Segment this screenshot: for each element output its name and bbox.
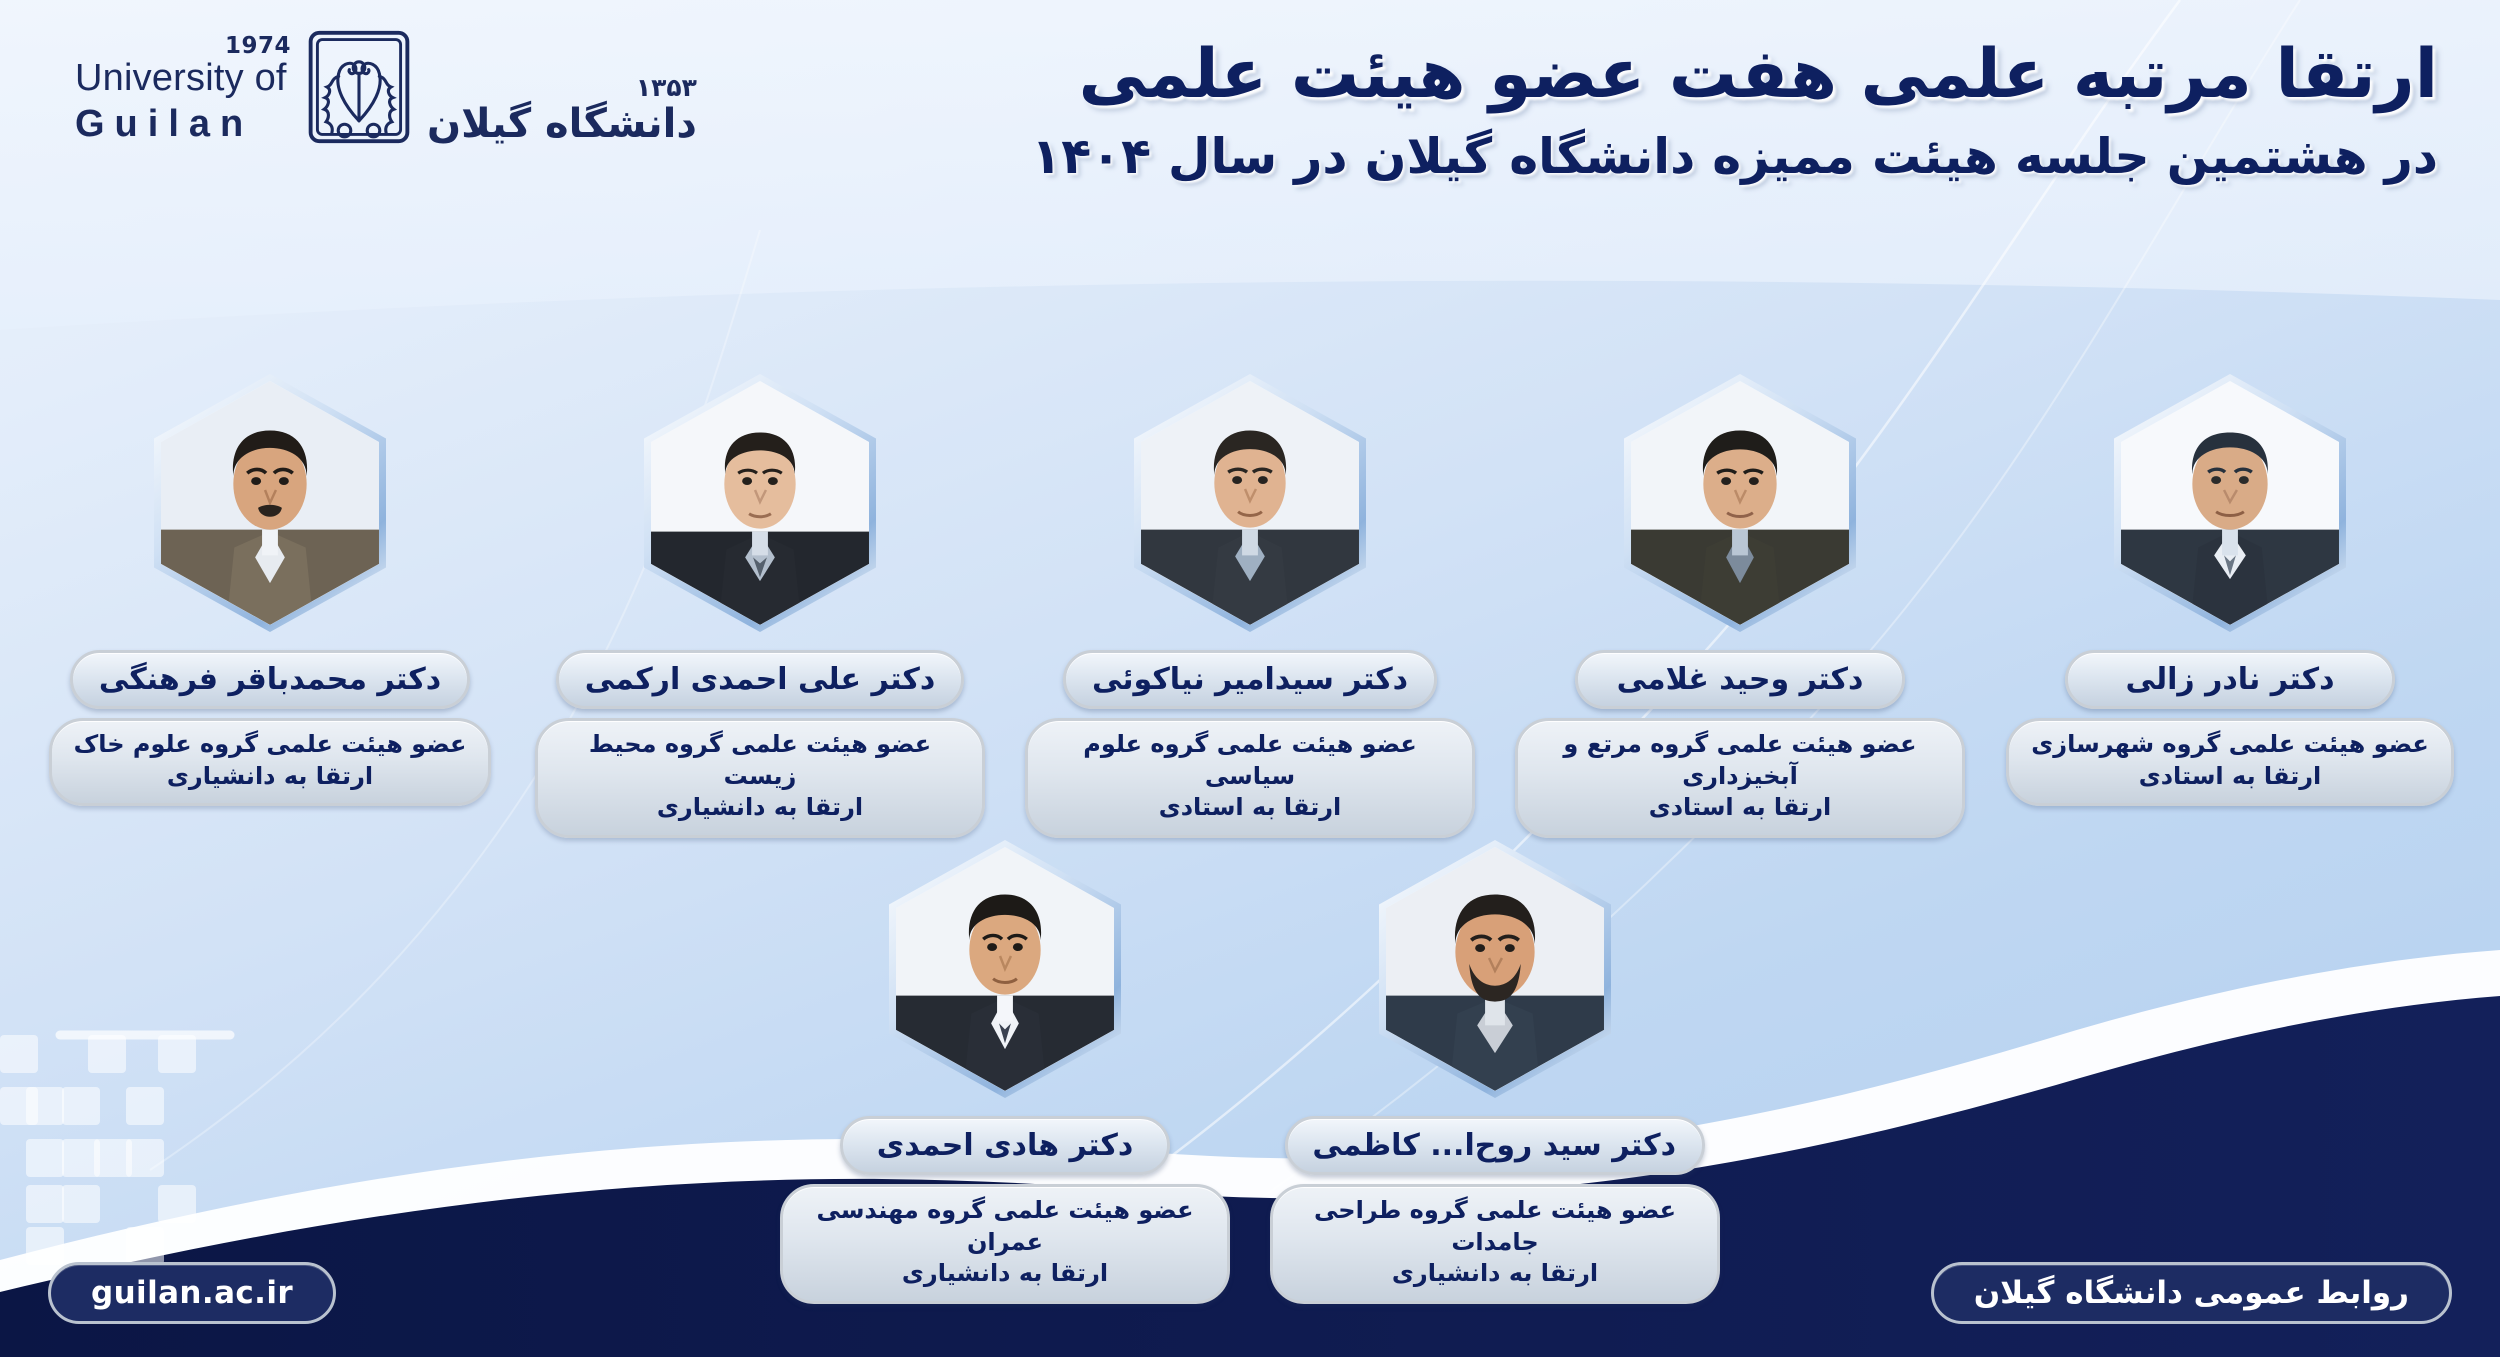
poster-canvas: 1974 University of Guilan ۱۳۵۳ دانشگاه گ… — [0, 0, 2500, 1357]
person-name: دکتر وحید غلامی — [1575, 650, 1905, 709]
logo-founding-year-latin: 1974 — [225, 35, 291, 58]
portrait-hexagon-frame — [644, 374, 876, 632]
person-promotion: ارتقا به دانشیاری — [805, 1258, 1205, 1290]
person-card: دکتر وحید غلامی عضو هیئت علمی گروه مرتع … — [1495, 374, 1985, 838]
person-name: دکتر سید روح‌ا... کاظمی — [1285, 1116, 1705, 1175]
logo-guilan-label: Guilan — [75, 103, 253, 146]
person-info: عضو هیئت علمی گروه طراحی جامدات ارتقا به… — [1270, 1184, 1720, 1304]
person-name: دکتر محمدباقر فرهنگی — [70, 650, 470, 709]
person-card: دکتر نادر زالی عضو هیئت علمی گروه شهرساز… — [1985, 374, 2475, 838]
portrait-hexagon-frame — [1624, 374, 1856, 632]
person-card: دکتر سیدامیر نیاکوئی عضو هیئت علمی گروه … — [1005, 374, 1495, 838]
logo-university-of-label: University of — [75, 58, 287, 99]
portrait-hexagon-frame — [154, 374, 386, 632]
person-info: عضو هیئت علمی گروه علوم سیاسی ارتقا به ا… — [1025, 718, 1475, 838]
person-name: دکتر سیدامیر نیاکوئی — [1063, 650, 1437, 709]
person-promotion: ارتقا به استادی — [1540, 792, 1940, 824]
person-card: دکتر علی احمدی ارکمی عضو هیئت علمی گروه … — [515, 374, 1005, 838]
logo-founding-year-persian: ۱۳۵۳ — [636, 75, 697, 100]
person-name: دکتر علی احمدی ارکمی — [556, 650, 964, 709]
person-department: عضو هیئت علمی گروه طراحی جامدات — [1314, 1196, 1676, 1256]
public-relations-badge: روابط عمومی دانشگاه گیلان — [1931, 1262, 2452, 1324]
portrait-hexagon-frame — [889, 840, 1121, 1098]
logo-english-text: 1974 University of Guilan — [75, 35, 291, 146]
person-department: عضو هیئت علمی گروه علوم سیاسی — [1083, 730, 1417, 790]
person-promotion: ارتقا به استادی — [2031, 761, 2429, 793]
people-row-top: دکتر نادر زالی عضو هیئت علمی گروه شهرساز… — [0, 374, 2500, 838]
logo-university-name-persian: دانشگاه گیلان — [427, 102, 697, 146]
person-promotion: ارتقا به دانشیاری — [74, 761, 467, 793]
website-url-badge[interactable]: guilan.ac.ir — [48, 1262, 336, 1324]
person-info: عضو هیئت علمی گروه محیط زیست ارتقا به دا… — [535, 718, 985, 838]
person-department: عضو هیئت علمی گروه شهرسازی — [2031, 730, 2429, 758]
person-info: عضو هیئت علمی گروه علوم خاک ارتقا به دان… — [49, 718, 492, 806]
page-subtitle: در هشتمین جلسه هیئت ممیزه دانشگاه گیلان … — [1031, 125, 2438, 189]
people-row-bottom: دکتر سید روح‌ا... کاظمی عضو هیئت علمی گر… — [0, 840, 2500, 1304]
person-promotion: ارتقا به دانشیاری — [1295, 1258, 1695, 1290]
person-name: دکتر هادی احمدی — [840, 1116, 1170, 1175]
header-title-block: ارتقا مرتبه علمی هفت عضو هیئت علمی در هش… — [1031, 32, 2438, 189]
person-info: عضو هیئت علمی گروه شهرسازی ارتقا به استا… — [2006, 718, 2454, 806]
logo-persian-text: ۱۳۵۳ دانشگاه گیلان — [427, 75, 697, 146]
person-promotion: ارتقا به استادی — [1050, 792, 1450, 824]
page-title: ارتقا مرتبه علمی هفت عضو هیئت علمی — [1031, 32, 2438, 117]
person-card: دکتر هادی احمدی عضو هیئت علمی گروه مهندس… — [760, 840, 1250, 1304]
portrait-hexagon-frame — [2114, 374, 2346, 632]
person-info: عضو هیئت علمی گروه مرتع و آبخیزداری ارتق… — [1515, 718, 1965, 838]
person-department: عضو هیئت علمی گروه علوم خاک — [74, 730, 467, 758]
person-card: دکتر سید روح‌ا... کاظمی عضو هیئت علمی گر… — [1250, 840, 1740, 1304]
person-name: دکتر نادر زالی — [2065, 650, 2395, 709]
person-department: عضو هیئت علمی گروه محیط زیست — [589, 730, 931, 790]
person-department: عضو هیئت علمی گروه مرتع و آبخیزداری — [1563, 730, 1916, 790]
person-promotion: ارتقا به دانشیاری — [560, 792, 960, 824]
university-logo: 1974 University of Guilan ۱۳۵۳ دانشگاه گ… — [75, 28, 697, 146]
person-card: دکتر محمدباقر فرهنگی عضو هیئت علمی گروه … — [25, 374, 515, 838]
portrait-hexagon-frame — [1134, 374, 1366, 632]
portrait-hexagon-frame — [1379, 840, 1611, 1098]
person-info: عضو هیئت علمی گروه مهندسی عمران ارتقا به… — [780, 1184, 1230, 1304]
guilan-university-emblem-icon — [305, 28, 413, 146]
person-department: عضو هیئت علمی گروه مهندسی عمران — [817, 1196, 1194, 1256]
